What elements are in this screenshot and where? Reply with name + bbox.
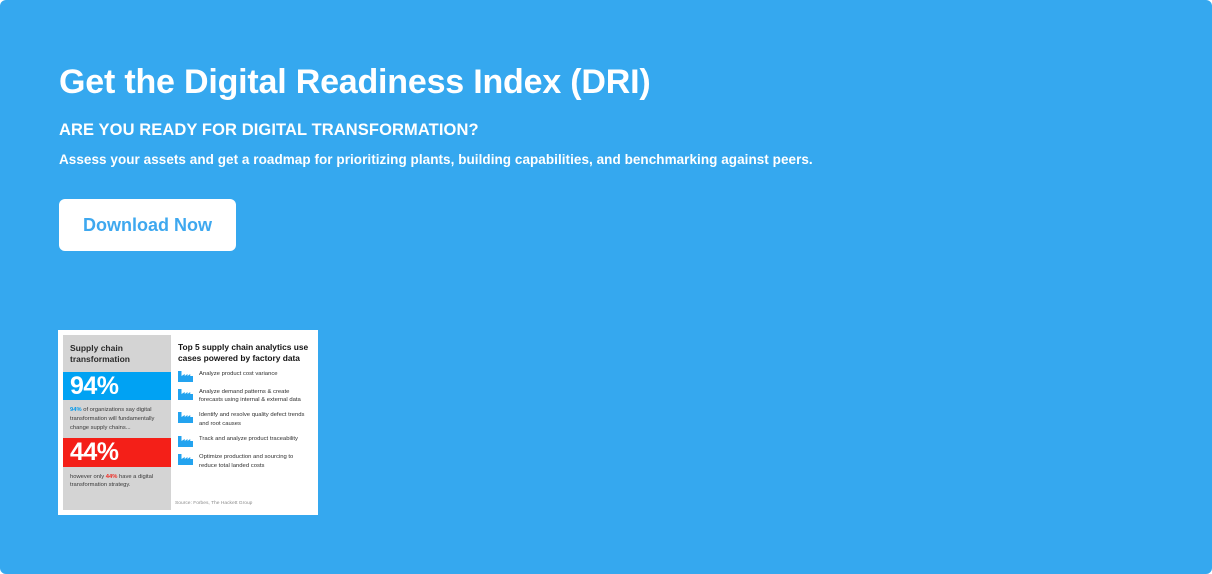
usecases-list: Analyze product cost variance Analyze de…: [178, 370, 309, 471]
usecase-label: Analyze demand patterns & create forecas…: [199, 388, 309, 406]
infographic-card: Supply chain transformation 94% 94% of o…: [58, 330, 318, 515]
stat-value-44: 44%: [70, 440, 119, 465]
factory-icon: [178, 389, 193, 400]
stat-caption-44-prefix: however only: [70, 474, 106, 480]
list-item: Optimize production and sourcing to redu…: [178, 453, 309, 471]
usecase-label: Identify and resolve quality defect tren…: [199, 411, 309, 429]
infographic-source-row: Source: Forbes, The Hackett Group: [63, 496, 313, 510]
stat-caption-44-highlight: 44%: [106, 474, 118, 480]
stats-panel: Supply chain transformation 94% 94% of o…: [63, 335, 171, 496]
stat-bar-94: 94%: [63, 372, 171, 401]
list-item: Identify and resolve quality defect tren…: [178, 411, 309, 429]
usecase-label: Optimize production and sourcing to redu…: [199, 453, 309, 471]
hero-text-block: Get the Digital Readiness Index (DRI) AR…: [59, 62, 1159, 167]
hero-banner: Get the Digital Readiness Index (DRI) AR…: [0, 0, 1212, 574]
stats-panel-heading: Supply chain transformation: [63, 335, 171, 372]
factory-icon: [178, 412, 193, 423]
factory-icon: [178, 436, 193, 447]
stat-caption-44: however only 44% have a digital transfor…: [63, 467, 171, 496]
factory-icon: [178, 454, 193, 465]
download-now-button[interactable]: Download Now: [59, 199, 236, 251]
usecase-label: Track and analyze product traceability: [199, 435, 298, 444]
infographic-body: Supply chain transformation 94% 94% of o…: [63, 335, 313, 496]
stat-caption-94-text: of organizations say digital transformat…: [70, 407, 154, 430]
list-item: Analyze demand patterns & create forecas…: [178, 388, 309, 406]
usecases-panel: Top 5 supply chain analytics use cases p…: [171, 335, 313, 496]
source-attribution: Source: Forbes, The Hackett Group: [171, 501, 252, 506]
list-item: Track and analyze product traceability: [178, 435, 309, 447]
stat-bar-44: 44%: [63, 438, 171, 467]
hero-subtitle: ARE YOU READY FOR DIGITAL TRANSFORMATION…: [59, 121, 1159, 140]
factory-icon: [178, 371, 193, 382]
list-item: Analyze product cost variance: [178, 370, 309, 382]
stat-caption-94-highlight: 94%: [70, 407, 82, 413]
hero-description: Assess your assets and get a roadmap for…: [59, 152, 1159, 167]
usecase-label: Analyze product cost variance: [199, 370, 278, 379]
stat-value-94: 94%: [70, 374, 119, 399]
stat-caption-94: 94% of organizations say digital transfo…: [63, 400, 171, 438]
usecases-panel-heading: Top 5 supply chain analytics use cases p…: [178, 342, 309, 364]
page-title: Get the Digital Readiness Index (DRI): [59, 62, 1159, 103]
source-gray-stub: [63, 496, 171, 510]
